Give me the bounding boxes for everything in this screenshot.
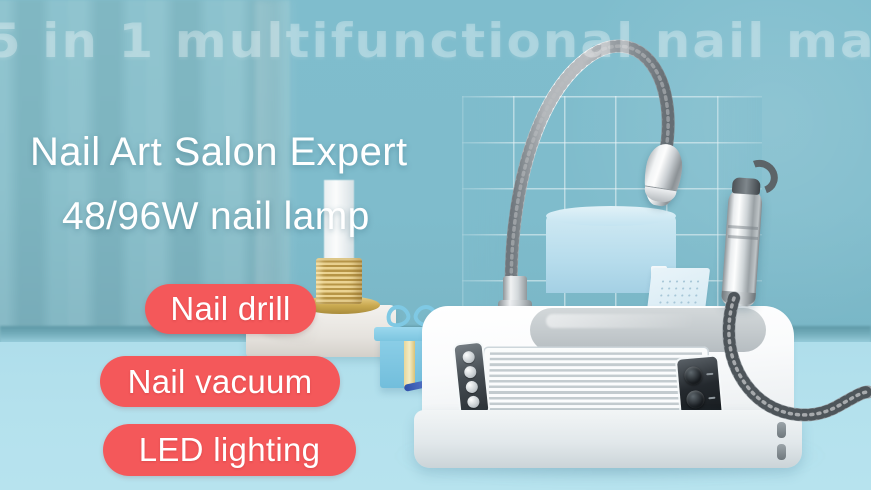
feature-badge-nail-drill[interactable]: Nail drill [145, 284, 316, 334]
product-banner-stage: 5 in 1 multifunctional nail machine Nail… [0, 0, 871, 490]
feature-badge-group: Nail drill Nail vacuum LED lighting [0, 0, 871, 490]
feature-badge-nail-vacuum[interactable]: Nail vacuum [100, 356, 340, 407]
feature-badge-led-lighting[interactable]: LED lighting [103, 424, 356, 476]
